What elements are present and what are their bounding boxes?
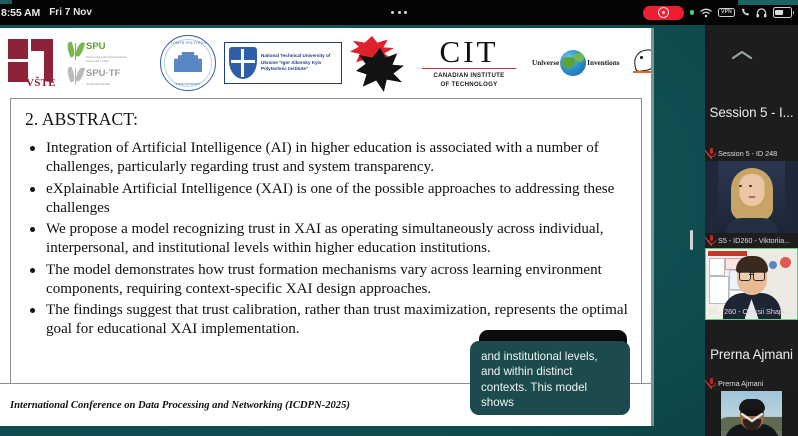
participant-name-label: Session 5 - ID 248	[718, 149, 777, 158]
slide-logo-strip: VŠTE SPU Slovenská poľnohospodárska univ…	[0, 28, 651, 96]
university-seal-logo: ZHYTOMYR POLYTECHNIC STATE UNIVERSITY	[160, 35, 216, 91]
statusbar-teal-left-edge	[0, 0, 12, 4]
participant-nameplate: S5 - ID260 - Viktoriia...	[705, 233, 798, 248]
sputf-logo-subtitle: Technická fakulta	[86, 82, 132, 86]
ntuu-logo-text: National Technical University of Ukraine…	[261, 53, 337, 74]
vpn-icon[interactable]: VPN	[718, 8, 735, 17]
ntuu-kpi-logo: National Technical University of Ukraine…	[224, 42, 342, 84]
participant-video-thumbnail[interactable]: S5 - 260 - Oleksii Shapo...	[705, 248, 798, 320]
universe-logo-part2: Inventions	[587, 59, 619, 67]
vste-logo: VŠTE	[4, 37, 60, 89]
spu-logo: SPU Slovenská poľnohospodárska univerzit…	[68, 35, 152, 91]
slide-bullet-item: We propose a model recognizing trust in …	[23, 220, 631, 258]
cit-logo: CIT CANADIAN INSTITUTE OF TECHNOLOGY	[414, 37, 524, 89]
participant-name-label: S5 - 260 - Oleksii Shapo...	[709, 307, 793, 316]
live-caption-box: and institutional levels, and within dis…	[470, 341, 630, 415]
participant-display-name: Prerna Ajmani	[706, 347, 797, 362]
participant-video-thumbnail[interactable]	[705, 161, 798, 233]
panel-resize-handle[interactable]	[690, 230, 693, 250]
sidebar-spacer	[705, 320, 798, 332]
springer-logo: Springer	[632, 49, 651, 77]
seal-arc-bottom: STATE UNIVERSITY	[161, 83, 215, 87]
clock-date: Fri 7 Nov	[49, 7, 92, 18]
participant-list: Session 5 - I... Session 5 - ID 248	[705, 78, 798, 436]
slide-bullet-list: Integration of Artificial Intelligence (…	[23, 139, 631, 339]
participant-initials-placeholder: Prerna Ajmani	[705, 332, 798, 376]
maple-leaf-logo	[350, 34, 406, 92]
headphones-icon[interactable]	[756, 8, 767, 18]
participant-name-label: S5 - ID260 - Viktoriia...	[718, 236, 790, 245]
vste-logo-text: VŠTE	[26, 77, 56, 89]
cit-logo-sub1: CANADIAN INSTITUTE	[414, 71, 524, 80]
recording-indicator-icon[interactable]	[643, 6, 684, 20]
slide-right-edge	[651, 28, 654, 426]
meeting-window: 8:55 AM Fri 7 Nov VPN	[0, 0, 798, 436]
slide-bullet-item: eXplainable Artificial Intelligence (XAI…	[23, 180, 631, 218]
slide-footer-text: International Conference on Data Process…	[0, 400, 350, 411]
cit-logo-title: CIT	[414, 37, 524, 66]
participant-display-name: Session 5 - I...	[706, 105, 798, 120]
participant-nameplate: S5 - 260 - Oleksii Shapo...	[706, 304, 797, 319]
universe-inventions-logo: Universe Inventions	[532, 50, 624, 76]
status-dot-icon	[690, 10, 695, 15]
slide-bullet-item: Integration of Artificial Intelligence (…	[23, 139, 631, 177]
battery-icon[interactable]	[773, 7, 792, 18]
universe-logo-part1: Universe	[532, 59, 559, 67]
clock-time: 8:55 AM	[1, 7, 40, 19]
mic-muted-icon	[708, 378, 715, 389]
more-options-dots-icon[interactable]	[391, 11, 407, 14]
slide-bullet-item: The model demonstrates how trust formati…	[23, 261, 631, 299]
wheat-leaf-gray-icon	[68, 65, 83, 85]
statusbar-right-group: VPN	[643, 0, 792, 25]
system-status-bar: 8:55 AM Fri 7 Nov VPN	[0, 0, 798, 25]
kpi-shield-icon	[229, 47, 257, 79]
participant-tile[interactable]: S5 - ID260 - Viktoriia...	[705, 161, 798, 248]
participant-initials-placeholder: Session 5 - I...	[705, 78, 798, 146]
participant-tile[interactable]: Prerna Ajmani Prerna Ajmani	[705, 332, 798, 391]
chevron-up-icon[interactable]	[724, 44, 760, 66]
knight-horse-icon	[632, 49, 651, 77]
participant-sidebar[interactable]: Session 5 - I... Session 5 - ID 248	[705, 25, 798, 436]
globe-icon	[560, 50, 586, 76]
mic-muted-icon	[708, 148, 715, 159]
phone-icon[interactable]	[741, 8, 750, 17]
slide-heading: 2. ABSTRACT:	[25, 109, 631, 130]
video-frame	[705, 161, 798, 233]
mic-muted-icon	[708, 235, 715, 246]
chevron-down-icon[interactable]	[705, 406, 798, 428]
cit-logo-sub2: OF TECHNOLOGY	[414, 80, 524, 89]
seal-arc-top: ZHYTOMYR POLYTECHNIC	[161, 41, 215, 45]
participant-tile[interactable]: Session 5 - I... Session 5 - ID 248	[705, 78, 798, 161]
spu-logo-title: SPU	[86, 41, 106, 52]
participant-nameplate: Session 5 - ID 248	[705, 146, 798, 161]
sputf-logo-title: SPU·TF	[86, 68, 120, 79]
wheat-leaf-icon	[68, 40, 83, 60]
wifi-icon[interactable]	[700, 8, 712, 18]
participant-nameplate: Prerna Ajmani	[705, 376, 798, 391]
participant-name-label: Prerna Ajmani	[718, 379, 763, 388]
participant-tile-active-speaker[interactable]: S5 - 260 - Oleksii Shapo...	[705, 248, 798, 320]
statusbar-left-group: 8:55 AM Fri 7 Nov	[0, 7, 92, 19]
